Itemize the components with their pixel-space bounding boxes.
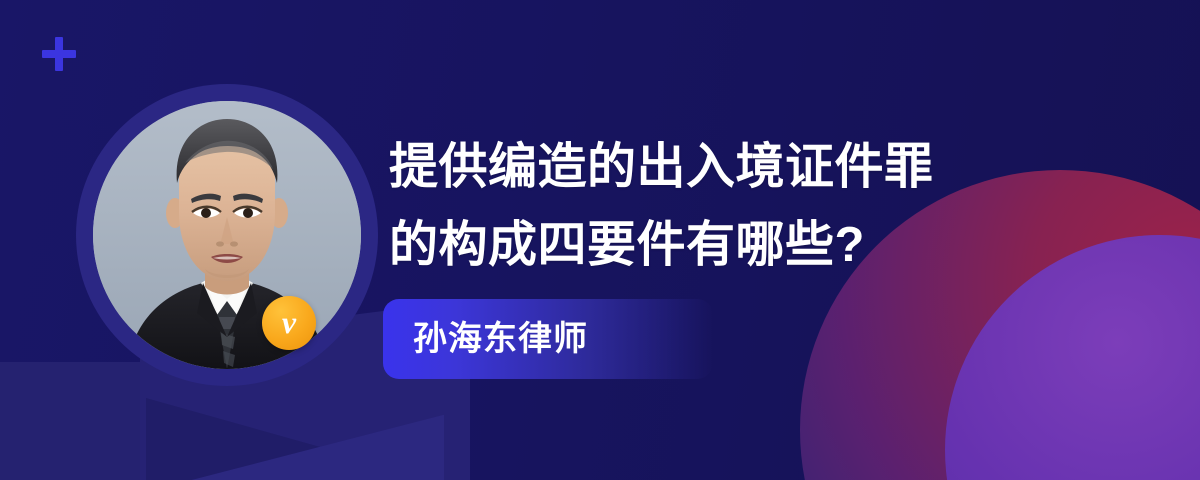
lawyer-name-label: 孙海东律师 bbox=[413, 322, 588, 356]
decor-left-wedge bbox=[146, 398, 466, 480]
headline-block: 提供编造的出入境证件罪 的构成四要件有哪些? bbox=[389, 128, 1179, 284]
decor-mid-triangle bbox=[184, 400, 444, 480]
avatar-photo bbox=[93, 101, 361, 369]
verified-badge-icon: v bbox=[262, 296, 316, 350]
plus-icon bbox=[42, 37, 76, 71]
lawyer-qa-banner: v 提供编造的出入境证件罪 的构成四要件有哪些? 孙海东律师 bbox=[0, 0, 1200, 480]
verified-v-glyph: v bbox=[282, 306, 296, 338]
avatar[interactable]: v bbox=[76, 84, 378, 386]
lawyer-name-badge[interactable]: 孙海东律师 bbox=[383, 299, 713, 379]
page-title: 提供编造的出入境证件罪 的构成四要件有哪些? bbox=[389, 128, 1179, 284]
